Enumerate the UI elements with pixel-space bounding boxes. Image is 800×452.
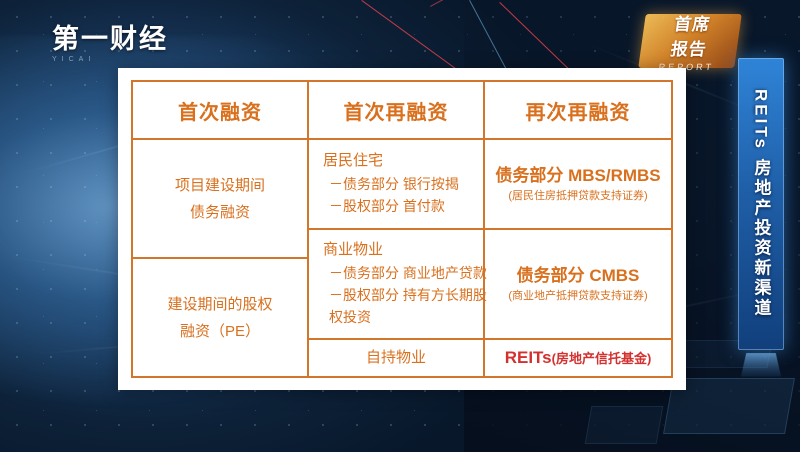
program-badge: 首席 报告 REPORT <box>638 14 742 68</box>
column-header-1: 首次融资 <box>133 82 307 140</box>
cell-c3-r3: REITs(房地产信托基金) <box>485 338 671 376</box>
cell-c2-r2: 商业物业 －债务部分 商业地产贷款 －股权部分 持有方长期股 权投资 <box>309 228 483 338</box>
program-badge-line1: 首席 <box>673 10 713 35</box>
table-column-first-refinancing: 首次再融资 居民住宅 －债务部分 银行按揭 －股权部分 首付款 商业物业 －债务… <box>309 82 485 376</box>
cell-c3-r2-main: 债务部分 CMBS <box>517 264 640 289</box>
vertical-title-strip: REITs 房地产投资新渠道 <box>738 58 784 350</box>
program-badge-line2: 报告 <box>669 35 709 60</box>
table-column-first-financing: 首次融资 项目建设期间 债务融资 建设期间的股权 融资（PE） <box>133 82 309 376</box>
table-column-second-refinancing: 再次再融资 债务部分 MBS/RMBS (居民住房抵押贷款支持证券) 债务部分 … <box>485 82 671 376</box>
cell-c1-r1-line1: 项目建设期间 <box>175 172 265 199</box>
cell-c2-r1: 居民住宅 －债务部分 银行按揭 －股权部分 首付款 <box>309 140 483 228</box>
cell-c2-r1-title: 居民住宅 <box>323 150 383 173</box>
cell-c2-r1-item2: －股权部分 首付款 <box>329 195 445 217</box>
cell-c3-r2-note: (商业地产抵押贷款支持证券) <box>508 289 647 304</box>
content-panel: 首次融资 项目建设期间 债务融资 建设期间的股权 融资（PE） 首次再融资 居民… <box>118 68 686 390</box>
cell-c1-r2-line2: 融资（PE） <box>180 318 260 345</box>
vertical-strip-base-glow <box>741 353 781 377</box>
cell-c3-r2: 债务部分 CMBS (商业地产抵押贷款支持证券) <box>485 228 671 338</box>
cell-c3-r1-main: 债务部分 MBS/RMBS <box>495 164 660 189</box>
reits-label: REITs <box>505 348 552 367</box>
cell-c2-r2-item2: －股权部分 持有方长期股 <box>329 284 487 306</box>
cell-c2-r3-text: 自持物业 <box>366 346 426 370</box>
decorative-block <box>585 406 664 444</box>
column-header-3: 再次再融资 <box>485 82 671 140</box>
cell-c3-r1-note: (居民住房抵押贷款支持证券) <box>508 189 647 204</box>
cell-c3-r1: 债务部分 MBS/RMBS (居民住房抵押贷款支持证券) <box>485 140 671 228</box>
column-header-2: 首次再融资 <box>309 82 483 140</box>
cell-c2-r2-item3: 权投资 <box>329 306 371 328</box>
cell-c2-r2-title: 商业物业 <box>323 239 383 262</box>
cell-c2-r2-item1: －债务部分 商业地产贷款 <box>329 262 487 284</box>
channel-logo: 第一财经 YICAI <box>52 24 192 70</box>
cell-c2-r1-item1: －债务部分 银行按揭 <box>329 173 459 195</box>
channel-logo-subtext: YICAI <box>52 56 192 63</box>
vertical-title-text: REITs 房地产投资新渠道 <box>749 89 774 319</box>
cell-c3-r3-reits: REITs(房地产信托基金) <box>505 348 652 368</box>
cell-c2-r3: 自持物业 <box>309 338 483 376</box>
cell-c1-r1: 项目建设期间 债务融资 <box>133 140 307 257</box>
reits-note: (房地产信托基金) <box>552 351 652 366</box>
channel-logo-text: 第一财经 <box>52 24 192 54</box>
financing-stages-table: 首次融资 项目建设期间 债务融资 建设期间的股权 融资（PE） 首次再融资 居民… <box>131 80 673 378</box>
cell-c1-r2-line1: 建设期间的股权 <box>167 291 272 318</box>
program-badge-inner: 首席 报告 REPORT <box>638 14 742 68</box>
cell-c1-r2: 建设期间的股权 融资（PE） <box>133 257 307 376</box>
cell-c1-r1-line2: 债务融资 <box>190 199 250 226</box>
